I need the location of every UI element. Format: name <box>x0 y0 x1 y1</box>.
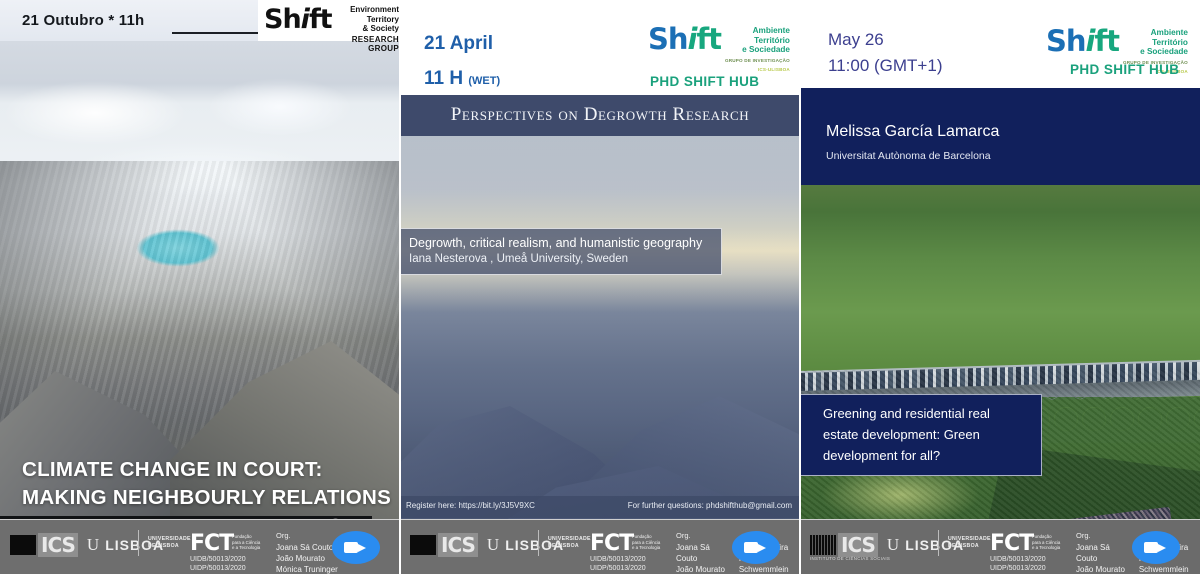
ics-logo-3: ICS U LISBOA <box>810 533 964 557</box>
panel-2-header: 21 April 11 H (WET) Shift Ambiente Terri… <box>400 0 800 95</box>
fct-logo-3: FCT <box>990 531 1033 556</box>
ics-u-glyph: U <box>487 535 499 555</box>
uni-line-2: DE LISBOA <box>948 543 991 550</box>
talk-title-line-3: development for all? <box>823 445 1031 466</box>
fct-sub-3: e a Tecnologia <box>232 545 260 551</box>
header-rule <box>172 32 260 34</box>
uni-line-2: DE LISBOA <box>148 543 191 550</box>
shift-word-b: ft <box>697 22 721 56</box>
tagline-line-2: Territory <box>341 15 399 25</box>
fct-subtitle-2: Fundação para a Ciência e a Tecnologia <box>632 534 660 551</box>
panel-1-title-line-2: MAKING NEIGHBOURLY RELATIONS <box>22 484 391 512</box>
organizer: João Mourato <box>1076 564 1130 574</box>
uid-1: UIDB/50013/2020 <box>990 555 1046 564</box>
panel-3-speaker: Melissa García Lamarca <box>826 123 999 141</box>
panel-2-time: 11 H (WET) <box>424 68 500 90</box>
tagline-line-1: Environment <box>341 5 399 15</box>
uid-2: UIDP/50013/2020 <box>190 564 246 573</box>
panel-2-register-bar: Register here: https://bit.ly/3J5V9XC Fo… <box>400 496 800 518</box>
uid-codes-2: UIDB/50013/2020 UIDP/50013/2020 <box>590 555 646 573</box>
panel-3-talk-caption: Greening and residential real estate dev… <box>800 394 1042 476</box>
org-columns-1: Joana Sá Couto João Mourato Mónica Truni… <box>276 542 338 574</box>
uid-codes-1: UIDB/50013/2020 UIDP/50013/2020 <box>190 555 246 573</box>
panel-1-date: 21 Outubro * 11h <box>22 12 144 29</box>
phd-shift-hub-label-2: PHD SHIFT HUB <box>650 74 759 89</box>
shift-word-a: Sh <box>264 4 301 35</box>
fct-sub-3: e a Tecnologia <box>632 545 660 551</box>
panel-divider-1 <box>399 0 401 574</box>
grupo-investigacao-label: GRUPO DE INVESTIGAÇÃO <box>725 56 790 66</box>
photo-haze-overlay <box>400 136 800 519</box>
panel-1-footer: ICS U LISBOA UNIVERSIDADE DE LISBOA FCT … <box>0 519 400 574</box>
org-col-1: Joana Sá Couto João Mourato Mónica Truni… <box>1076 542 1130 574</box>
shift-word-b: ft <box>1095 24 1119 58</box>
panel-divider-2 <box>799 0 801 574</box>
tagline-line-2: Território <box>1123 38 1188 48</box>
org-col-1: Joana Sá Couto João Mourato Mónica Truni… <box>676 542 730 574</box>
fct-sub-3: e a Tecnologia <box>1032 545 1060 551</box>
panel-3-time: 11:00 (GMT+1) <box>828 56 942 76</box>
ics-wordmark: ICS <box>38 533 78 557</box>
uid-1: UIDB/50013/2020 <box>190 555 246 564</box>
shift-word-i: i <box>688 22 697 56</box>
organizer: Mónica Truninger <box>276 564 338 574</box>
shift-logo-black: Shift Environment Territory & Society RE… <box>258 0 400 41</box>
shift-logo-color-2: Shift Ambiente Território e Sociedade GR… <box>648 22 790 75</box>
org-col-1: Joana Sá Couto João Mourato Mónica Truni… <box>276 542 338 574</box>
tagline-line-2: Território <box>725 36 790 46</box>
ics-full-name: INSTITUTO DE CIÊNCIAS SOCIAIS <box>810 556 890 561</box>
shift-word-a: Sh <box>648 22 688 56</box>
uni-line-1: UNIVERSIDADE <box>148 536 191 543</box>
panel-2-session-title-bar: Perspectives on Degrowth Research <box>400 95 800 136</box>
organizer: Joana Sá Couto <box>1076 542 1130 564</box>
organizer: Joana Sá Couto <box>276 542 338 553</box>
panel-2-footer: ICS U LISBOA UNIVERSIDADE DE LISBOA FCT … <box>400 519 800 574</box>
shift-wordmark-2: Shift <box>648 22 721 56</box>
contact-email[interactable]: For further questions: phdshifthub@gmail… <box>628 501 792 510</box>
universidade-lisboa-1: UNIVERSIDADE DE LISBOA <box>148 536 191 549</box>
tagline-line-1: Ambiente <box>725 26 790 36</box>
org-label-1: Org. <box>276 531 338 542</box>
uid-codes-3: UIDB/50013/2020 UIDP/50013/2020 <box>990 555 1046 573</box>
ics-wordmark: ICS <box>838 533 878 557</box>
ics-square-icon <box>410 535 436 555</box>
talk-title-line-2: estate development: Green <box>823 424 1031 445</box>
panel-3-speaker-band: Melissa García Lamarca Universitat Autòn… <box>800 88 1200 185</box>
organizer: João Mourato <box>676 564 730 574</box>
uni-line-1: UNIVERSIDADE <box>948 536 991 543</box>
panel-1-photo-glacier <box>0 41 400 519</box>
talk-caption-1: Degrowth, critical realism, and humanist… <box>400 228 722 275</box>
panel-3-affiliation: Universitat Autònoma de Barcelona <box>826 150 991 162</box>
talk-1-title: Degrowth, critical realism, and humanist… <box>409 235 713 251</box>
uid-2: UIDP/50013/2020 <box>990 564 1046 573</box>
organizer: João Mourato <box>276 553 338 564</box>
shift-word-a: Sh <box>1046 24 1086 58</box>
shift-tagline-pt-2: Ambiente Território e Sociedade GRUPO DE… <box>725 22 790 75</box>
ics-wordmark: ICS <box>438 533 478 557</box>
uni-line-2: DE LISBOA <box>548 543 591 550</box>
shift-wordmark: Shift <box>264 4 332 35</box>
uid-1: UIDB/50013/2020 <box>590 555 646 564</box>
panel-2-session-title: Perspectives on Degrowth Research <box>400 104 800 126</box>
universidade-lisboa-3: UNIVERSIDADE DE LISBOA <box>948 536 991 549</box>
ics-logo-2: ICS U LISBOA <box>410 533 564 557</box>
fct-subtitle-1: Fundação para a Ciência e a Tecnologia <box>232 534 260 551</box>
shift-word-i: i <box>301 4 309 35</box>
shift-word-i: i <box>1086 24 1095 58</box>
fct-logo-1: FCT <box>190 531 233 556</box>
phd-shift-hub-label-3: PHD SHIFT HUB <box>1070 62 1179 77</box>
shift-tagline-en: Environment Territory & Society RESEARCH… <box>341 5 399 54</box>
panel-2-time-value: 11 H <box>424 68 463 89</box>
panel-3-footer: ICS U LISBOA INSTITUTO DE CIÊNCIAS SOCIA… <box>800 519 1200 574</box>
ics-square-icon <box>10 535 36 555</box>
organizers-1: Org. Joana Sá Couto João Mourato Mónica … <box>276 531 338 574</box>
ics-square-icon <box>810 535 836 555</box>
panel-1-header: 21 Outubro * 11h Shift Environment Terri… <box>0 0 400 41</box>
research-group-label: RESEARCH GROUP <box>341 35 399 54</box>
ics-logo-1: ICS U LISBOA <box>10 533 164 557</box>
organizer: Joana Sá Couto <box>676 542 730 564</box>
ics-u-glyph: U <box>87 535 99 555</box>
shift-word-b: ft <box>309 4 332 35</box>
panel-1-climate-change-in-court: 21 Outubro * 11h Shift Environment Terri… <box>0 0 400 574</box>
ics-u-glyph: U <box>887 535 899 555</box>
fct-logo-2: FCT <box>590 531 633 556</box>
uid-2: UIDP/50013/2020 <box>590 564 646 573</box>
footer-divider-3 <box>938 530 939 556</box>
panel-3-greening-residential-real-estate: May 26 11:00 (GMT+1) Shift Ambiente Terr… <box>800 0 1200 574</box>
zoom-video-camera-icon[interactable] <box>732 531 780 564</box>
zoom-video-camera-icon[interactable] <box>332 531 380 564</box>
panel-2-perspectives-on-degrowth: 21 April 11 H (WET) Shift Ambiente Terri… <box>400 0 800 574</box>
fct-subtitle-3: Fundação para a Ciência e a Tecnologia <box>1032 534 1060 551</box>
tagline-line-3: e Sociedade <box>1123 47 1188 57</box>
poster-board: 21 Outubro * 11h Shift Environment Terri… <box>0 0 1200 574</box>
zoom-video-camera-icon[interactable] <box>1132 531 1180 564</box>
panel-2-timezone: (WET) <box>468 75 500 87</box>
tagline-line-3: & Society <box>341 24 399 34</box>
shift-wordmark-3: Shift <box>1046 24 1119 58</box>
tagline-line-3: e Sociedade <box>725 45 790 55</box>
uni-line-1: UNIVERSIDADE <box>548 536 591 543</box>
footer-divider-1 <box>138 530 139 556</box>
footer-divider-2 <box>538 530 539 556</box>
panel-2-date: 21 April <box>424 33 493 55</box>
universidade-lisboa-2: UNIVERSIDADE DE LISBOA <box>548 536 591 549</box>
panel-1-title-line-1: CLIMATE CHANGE IN COURT: <box>22 456 391 484</box>
panel-3-date: May 26 <box>828 30 884 50</box>
talk-1-speaker: Iana Nesterova , Umeå University, Sweden <box>409 251 713 267</box>
talk-title-line-1: Greening and residential real <box>823 403 1031 424</box>
register-link[interactable]: Register here: https://bit.ly/3J5V9XC <box>406 501 535 510</box>
panel-1-title: CLIMATE CHANGE IN COURT: MAKING NEIGHBOU… <box>22 456 391 512</box>
tagline-line-1: Ambiente <box>1123 28 1188 38</box>
